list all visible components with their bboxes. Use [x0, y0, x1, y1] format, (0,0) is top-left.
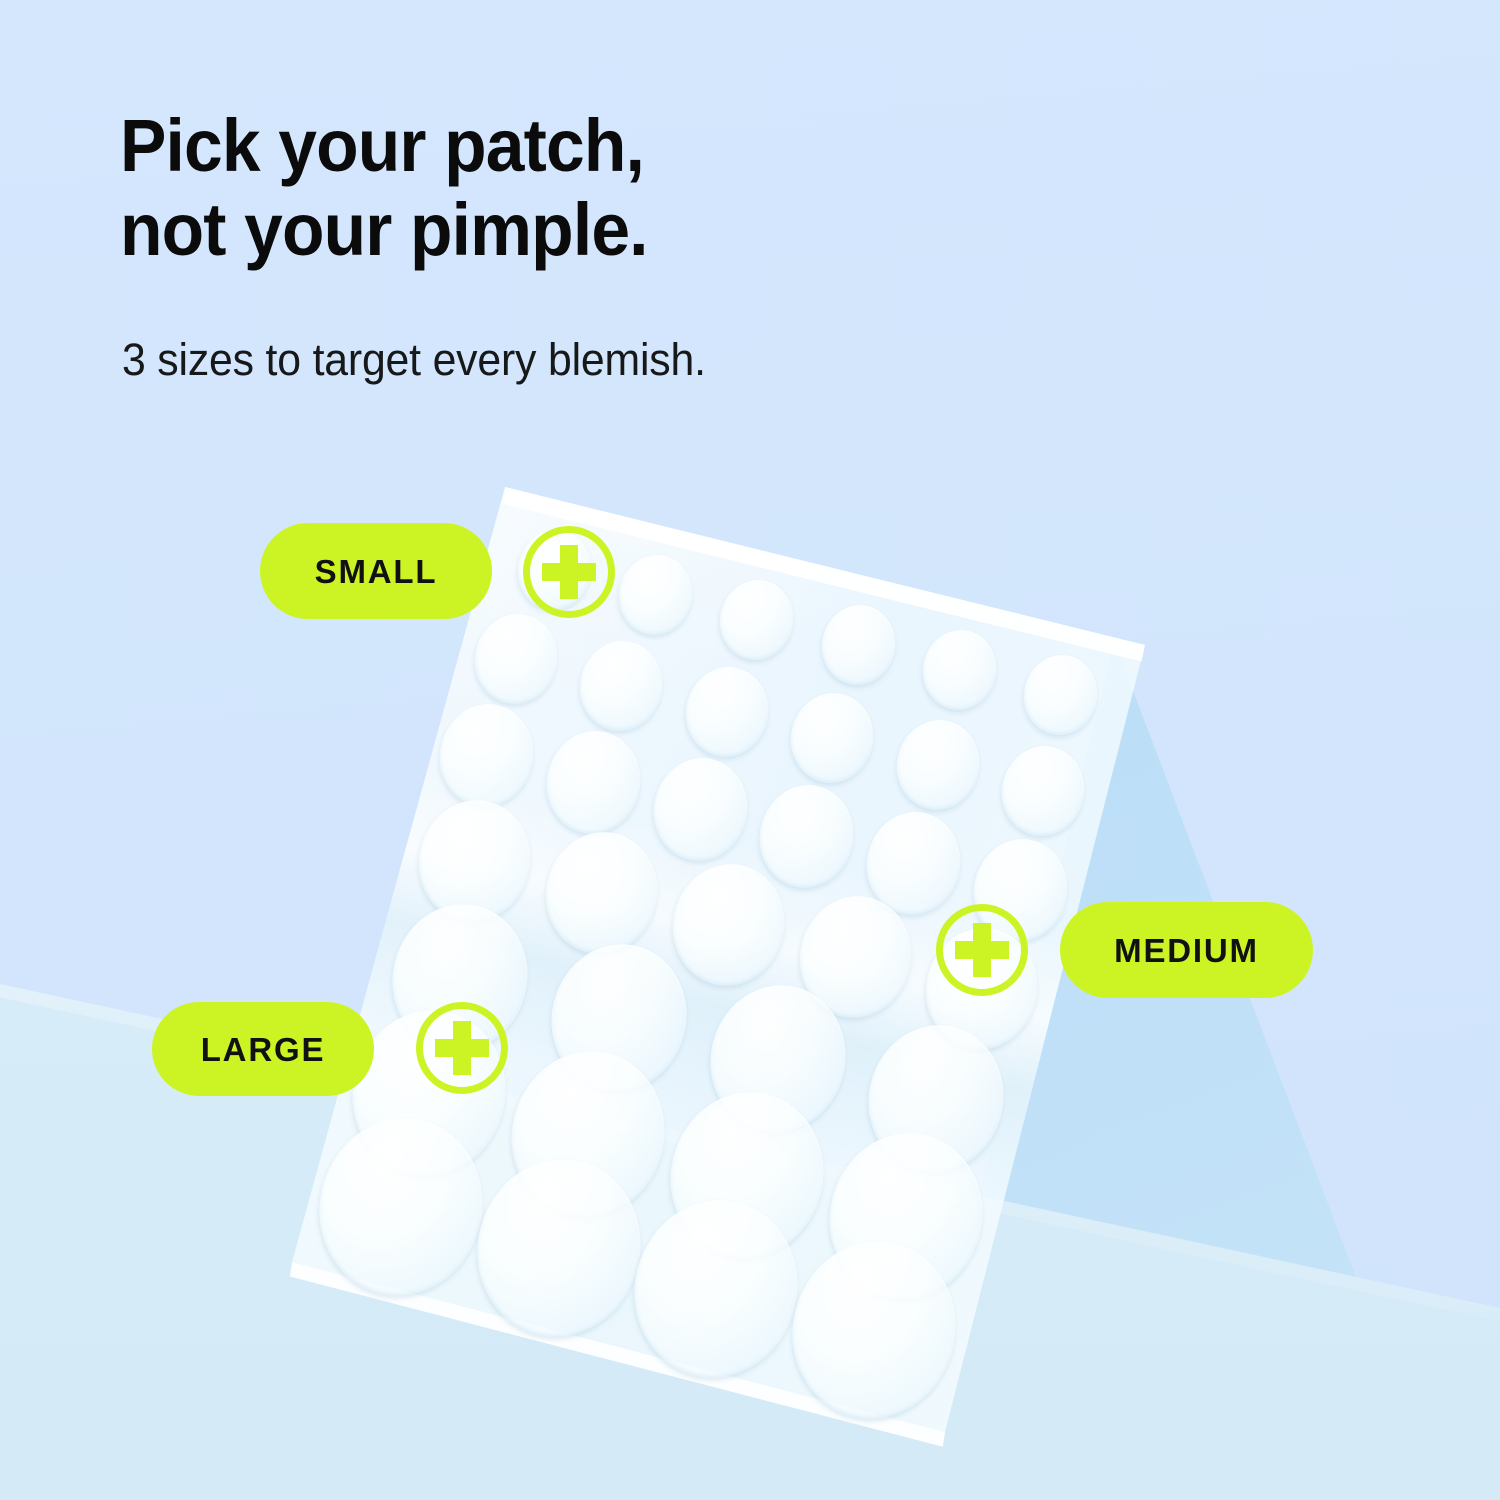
size-label-large[interactable]: LARGE — [152, 1002, 374, 1096]
headline-line-2: not your pimple. — [120, 188, 966, 272]
product-hero-image: SMALL MEDIUM LARGE Pick your patch, not … — [0, 0, 1500, 1500]
plus-icon-large — [414, 1000, 510, 1096]
size-label-small-text: SMALL — [315, 555, 438, 588]
plus-icon-medium — [934, 902, 1030, 998]
size-label-small[interactable]: SMALL — [260, 523, 492, 619]
size-label-medium-text: MEDIUM — [1114, 934, 1259, 967]
plus-icon-small — [521, 524, 617, 620]
headline-line-1: Pick your patch, — [120, 104, 966, 188]
size-label-medium[interactable]: MEDIUM — [1060, 902, 1313, 998]
size-label-large-text: LARGE — [201, 1033, 326, 1066]
subheadline: 3 sizes to target every blemish. — [122, 333, 706, 387]
headline: Pick your patch, not your pimple. — [120, 104, 966, 273]
